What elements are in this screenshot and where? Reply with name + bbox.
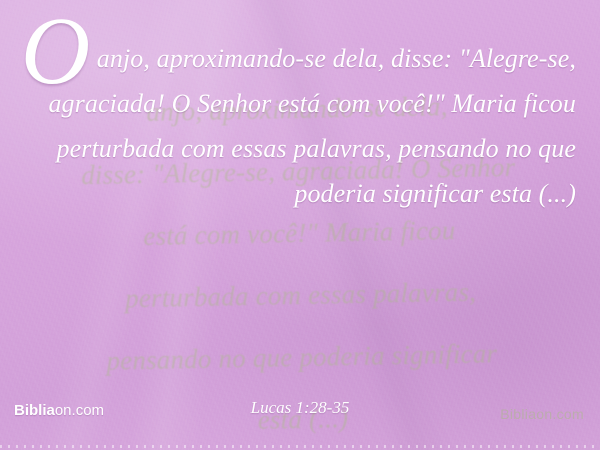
dotted-divider xyxy=(0,445,600,448)
verse-card: anjo, aproximando-se dela, disse: "Alegr… xyxy=(0,0,600,450)
verse-body-text: anjo, aproximando-se dela, disse: "Alegr… xyxy=(48,44,576,208)
card-footer: Bibliaon.com Lucas 1:28-35 Bibliaon.com xyxy=(0,398,600,450)
watermark-text: Bibliaon.com xyxy=(500,406,584,422)
verse-text: O anjo, aproximando-se dela, disse: "Ale… xyxy=(0,36,588,216)
